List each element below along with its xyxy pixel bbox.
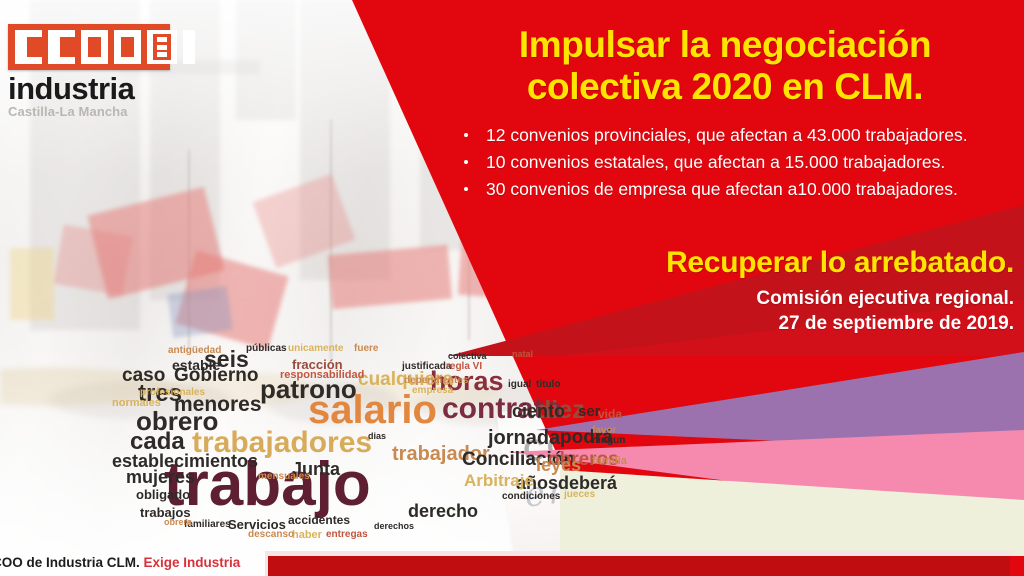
word-cloud-term: ciento [512,402,565,420]
ccoo-logo: industria Castilla-La Mancha [8,24,180,119]
footer-caption: COO de Industria CLM. Exige Industria [0,555,240,570]
coat-of-arms-bar [157,52,167,57]
signature-line-2: 27 de septiembre de 2019. [778,313,1014,334]
signature-block: Comisión ejecutiva regional. 27 de septi… [436,286,1014,336]
ccoo-logo-letters [15,30,195,64]
word-cloud-term: natal [512,350,533,359]
signature-line-1: Comisión ejecutiva regional. [756,288,1014,309]
word-cloud-term: igual [508,380,531,390]
ccoo-logo-mark [8,24,170,70]
coat-of-arms-bar [157,45,167,50]
headline-line-1: Impulsar la negociación [519,24,931,65]
word-cloud-term: condiciones [502,492,560,502]
word-cloud-term: públicas [246,344,287,354]
footer-caption-main: COO de Industria CLM. [0,555,140,570]
logo-letter-c-2 [48,30,75,64]
bullet-item: 10 convenios estatales, que afectan a 15… [460,149,1014,176]
coat-of-arms-icon [147,30,177,64]
word-cloud-term: caso [122,366,165,385]
word-cloud-term: regla VI [446,362,482,372]
word-cloud-term: responsabilidad [280,370,364,381]
word-cloud-term: ningun [592,436,625,446]
word-cloud-term: leyes [536,456,581,474]
copy-block: Impulsar la negociación colectiva 2020 e… [436,24,1014,336]
word-cloud-term: antigüedad [168,346,221,356]
word-cloud-term: favor [592,426,616,436]
word-cloud-term: mujeres [126,468,195,486]
word-cloud-term: Arbitraje [464,472,534,489]
word-cloud-term: dias [368,432,386,441]
footer-red-bar [265,556,1010,576]
logo-industria-text: industria [8,73,180,106]
coat-of-arms-inner [153,34,171,60]
slogan-text: Recuperar lo arrebatado. [436,246,1014,280]
word-cloud: trabajosalariotrabajadorescontratohorasp… [112,332,564,544]
word-cloud-term: justificada [402,362,451,372]
word-cloud-term: estable [172,358,220,372]
word-cloud-term: jueces [564,490,595,500]
word-cloud-term: jornada [488,428,560,448]
coat-of-arms-bar [157,37,167,42]
word-cloud-term: mensuales [258,472,310,482]
word-cloud-term: empresa [412,386,453,396]
bullet-item: 30 convenios de empresa que afectan a10.… [460,176,1014,203]
word-cloud-term: fuere [354,344,378,354]
word-cloud-term: colectiva [448,352,487,361]
word-cloud-term: derechos [374,522,414,531]
footer-caption-highlight: Exige Industria [144,555,241,570]
word-cloud-term: obrera [164,518,192,527]
word-cloud-term: obligado [136,488,190,501]
poster-canvas: CONVENIO enecaccm trabajosalariotrabajad… [0,0,1024,576]
word-cloud-term: derecho [408,502,478,520]
word-cloud-term: entregas [326,530,368,540]
page-title: Impulsar la negociación colectiva 2020 e… [436,24,1014,108]
logo-letter-o-1 [81,30,108,64]
word-cloud-term: unicamente [288,344,344,354]
logo-letter-o-2 [114,30,141,64]
word-cloud-term: accidentes [288,514,350,526]
word-cloud-term: familia [592,456,627,467]
bullet-list: 12 convenios provinciales, que afectan a… [436,122,1014,202]
word-cloud-term: vida [598,408,622,420]
logo-bar [183,30,195,64]
word-cloud-term: haber [292,530,322,541]
bullet-item: 12 convenios provinciales, que afectan a… [460,122,1014,149]
word-cloud-term: titulo [536,380,560,390]
word-cloud-term: profesionales [140,388,205,398]
headline-line-2: colectiva 2020 en CLM. [527,66,923,107]
word-cloud-term: descanso [248,530,294,540]
logo-region-text: Castilla-La Mancha [8,105,180,119]
word-cloud-term: normales [112,398,161,409]
logo-letter-c-1 [15,30,42,64]
